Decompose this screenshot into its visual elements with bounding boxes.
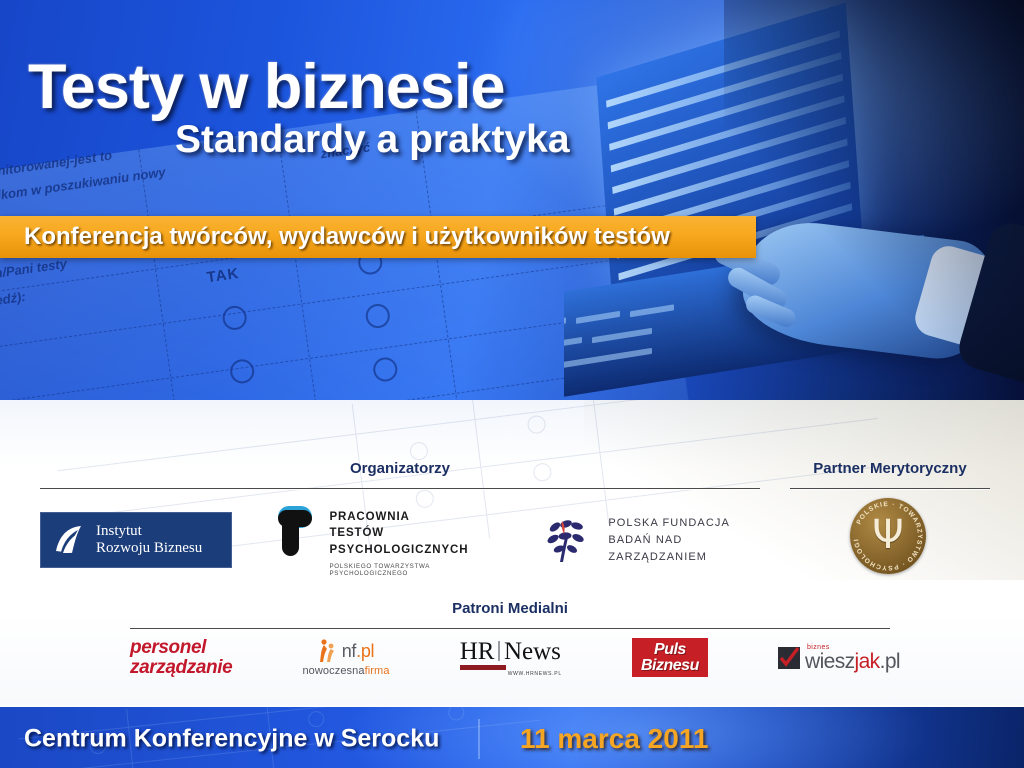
logo-pracownia-testow-psychologicznych[interactable]: PRACOWNIA TESTÓW PSYCHOLOGICZNYCH POLSKI… [264, 504, 495, 577]
venue-text: Centrum Konferencyjne w Serocku [24, 724, 439, 753]
checkmark-icon [778, 647, 800, 669]
wieszjak-wordmark: wieszjak.pl [805, 651, 900, 672]
nfpl-nf: nf [342, 641, 356, 661]
logo-text: Instytut Rozwoju Biznesu [96, 523, 202, 558]
pfb-line-1: POLSKA FUNDACJA [608, 515, 770, 532]
logo-instytut-rozwoju-biznesu[interactable]: Instytut Rozwoju Biznesu [40, 512, 232, 568]
conference-poster: TAK NIE ść monitorowanej-jest to wnikom … [0, 0, 1024, 768]
media-rule [130, 628, 890, 629]
media-logos: personel zarządzanie nf.pl nowocz [130, 638, 900, 678]
sail-icon [50, 521, 88, 559]
ptp-line-1: PRACOWNIA [329, 509, 495, 525]
puls-line-1: Puls [654, 642, 686, 657]
wj-a: wiesz [805, 650, 855, 673]
partner-rule [790, 488, 990, 489]
footer-divider [478, 719, 480, 759]
wj-b: jak [855, 650, 880, 673]
pracownia-t-icon [264, 504, 320, 560]
svg-text:POLSKIE · TOWARZYSTWO · PSYCHO: POLSKIE · TOWARZYSTWO · PSYCHOLOGICZNE [850, 498, 923, 571]
nfpl-wordmark: nf.pl [342, 641, 375, 662]
wj-c: .pl [880, 650, 900, 673]
logo-polska-fundacja-badan-nad-zarzadzaniem[interactable]: POLSKA FUNDACJA BADAŃ NAD ZARZĄDZANIEM [541, 515, 770, 566]
logo-personel-zarzadzanie[interactable]: personel zarządzanie [130, 638, 232, 678]
organizers-rule [40, 488, 760, 489]
logo-hr-news[interactable]: HR News WWW.HRNEWS.PL [460, 639, 562, 677]
logo-polskie-towarzystwo-psychologiczne[interactable]: Ψ POLSKIE · TOWARZYSTWO · PSYCHOLOGICZNE [850, 498, 926, 574]
partner-heading: Partner Merytoryczny [790, 460, 990, 477]
hero-banner: TAK NIE ść monitorowanej-jest to wnikom … [0, 0, 1024, 400]
page-subtitle: Standardy a praktyka [175, 120, 570, 159]
ptp-seal-icon: Ψ POLSKIE · TOWARZYSTWO · PSYCHOLOGICZNE [850, 498, 926, 574]
nfpl-sub-a: nowoczesna [302, 665, 364, 677]
logo-puls-biznesu[interactable]: Puls Biznesu [632, 638, 708, 677]
ptp-subline: POLSKIEGO TOWARZYSTWA PSYCHOLOGICZNEGO [329, 563, 495, 577]
media-heading: Patroni Medialni [130, 600, 890, 617]
running-figures-icon [318, 638, 338, 664]
logo-wieszjak-pl[interactable]: biznes wieszjak.pl [778, 644, 900, 672]
logo-text: POLSKA FUNDACJA BADAŃ NAD ZARZĄDZANIEM [608, 515, 770, 566]
hero-vignette [724, 0, 1024, 400]
organizers-heading: Organizatorzy [40, 460, 760, 477]
nfpl-tld: .pl [356, 641, 374, 661]
sponsors-section: Organizatorzy Instytut Rozwoju Biznesu [0, 400, 1024, 705]
event-date: 11 marca 2011 [520, 723, 708, 755]
pfb-line-2: BADAŃ NAD ZARZĄDZANIEM [608, 532, 770, 566]
page-title: Testy w biznesie [28, 56, 505, 119]
ptp-line-3: PSYCHOLOGICZNYCH [329, 542, 495, 558]
logo-nf-pl[interactable]: nf.pl nowoczesnafirma [302, 638, 389, 677]
logo-text: PRACOWNIA TESTÓW PSYCHOLOGICZNYCH [329, 504, 495, 558]
hrn-news: News [504, 639, 561, 664]
hrn-hr: HR [460, 639, 495, 664]
puls-line-2: Biznesu [641, 658, 699, 673]
conference-banner: Konferencja twórców, wydawców i użytkown… [0, 216, 756, 258]
pz-line-1: personel [130, 638, 232, 658]
irb-line-1: Instytut [96, 523, 202, 540]
conference-banner-text: Konferencja twórców, wydawców i użytkown… [24, 223, 670, 251]
laurel-icon [541, 515, 597, 565]
hrnews-wordmark: HR News [460, 639, 561, 664]
organizer-logos: Instytut Rozwoju Biznesu PRACOWNIA TESTÓ… [40, 504, 770, 577]
pz-line-2: zarządzanie [130, 658, 232, 678]
ptp-line-2: TESTÓW [329, 525, 495, 541]
nfpl-sub-b: firma [365, 665, 390, 677]
hrnews-underline [460, 665, 506, 670]
hrnews-url: WWW.HRNEWS.PL [508, 671, 562, 677]
seal-ring-text: POLSKIE · TOWARZYSTWO · PSYCHOLOGICZNE [850, 498, 926, 574]
footer-bar: Centrum Konferencyjne w Serocku 11 marca… [0, 705, 1024, 768]
divider-bar-icon [498, 641, 500, 661]
nfpl-subline: nowoczesnafirma [302, 665, 389, 677]
irb-line-2: Rozwoju Biznesu [96, 540, 202, 557]
